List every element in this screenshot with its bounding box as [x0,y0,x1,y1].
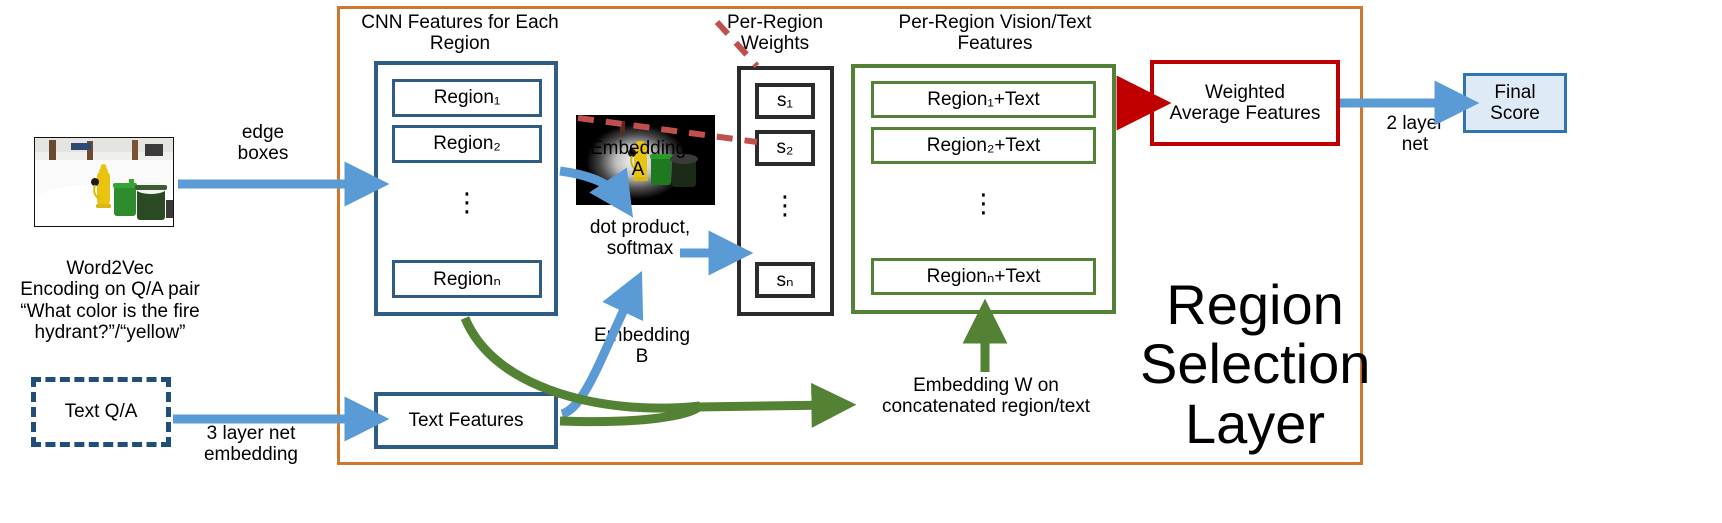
vision-text-item-n-label: Regionₙ+Text [927,265,1041,288]
vision-text-features-box: Region₁+Text Region₂+Text ⋮ Regionₙ+Text [851,64,1116,314]
region-item-1[interactable]: Region₁ [392,79,542,117]
three-layer-net-label: 3 layer net embedding [176,423,326,466]
weight-item-1-label: s₁ [777,90,793,112]
text-features-label: Text Features [408,410,523,432]
embedding-a-label: Embedding A [573,138,703,181]
final-score-box[interactable]: Final Score [1463,73,1567,133]
vision-text-item-2-label: Region₂+Text [927,135,1041,157]
region-selection-layer-title: Region Selection Layer [1140,275,1370,453]
edge-boxes-label: edge boxes [203,122,323,165]
cnn-features-ellipsis: ⋮ [392,195,542,211]
weighted-average-features-label: Weighted Average Features [1154,82,1336,125]
text-qa-box[interactable]: Text Q/A [31,377,171,447]
region-item-2[interactable]: Region₂ [392,125,542,163]
input-photo [34,137,174,227]
diagram-canvas: Word2Vec Encoding on Q/A pair “What colo… [0,0,1722,523]
embedding-w-label: Embedding W on concatenated region/text [866,375,1106,418]
text-features-box[interactable]: Text Features [374,392,558,449]
weight-item-2-label: s₂ [777,137,794,159]
per-region-weights-box: s₁ s₂ ⋮ sₙ [737,66,834,316]
weighted-average-features-box[interactable]: Weighted Average Features [1150,60,1340,146]
vision-text-features-ellipsis: ⋮ [871,196,1096,212]
weight-item-n-label: sₙ [776,269,793,292]
embedding-b-label: Embedding B [577,325,707,368]
final-score-label: Final Score [1466,82,1564,125]
vision-text-features-title: Per-Region Vision/Text Features [865,12,1125,55]
region-item-1-label: Region₁ [434,87,501,109]
two-layer-net-label: 2 layer net [1370,113,1460,156]
region-item-2-label: Region₂ [433,133,501,155]
cnn-features-box: Region₁ Region₂ ⋮ Regionₙ [374,61,558,316]
per-region-weights-title: Per-Region Weights [716,12,834,55]
region-item-n[interactable]: Regionₙ [392,260,542,298]
weight-item-2[interactable]: s₂ [755,130,815,166]
dot-product-softmax-label: dot product, softmax [560,217,720,260]
weight-item-n[interactable]: sₙ [755,262,815,298]
word2vec-caption: Word2Vec Encoding on Q/A pair “What colo… [10,258,210,343]
vision-text-item-n[interactable]: Regionₙ+Text [871,258,1096,295]
region-item-n-label: Regionₙ [433,268,501,291]
text-qa-label: Text Q/A [65,401,138,423]
vision-text-item-1-label: Region₁+Text [927,89,1040,111]
per-region-weights-ellipsis: ⋮ [755,198,815,214]
vision-text-item-1[interactable]: Region₁+Text [871,81,1096,118]
weight-item-1[interactable]: s₁ [755,83,815,119]
vision-text-item-2[interactable]: Region₂+Text [871,127,1096,164]
cnn-features-title: CNN Features for Each Region [350,12,570,55]
